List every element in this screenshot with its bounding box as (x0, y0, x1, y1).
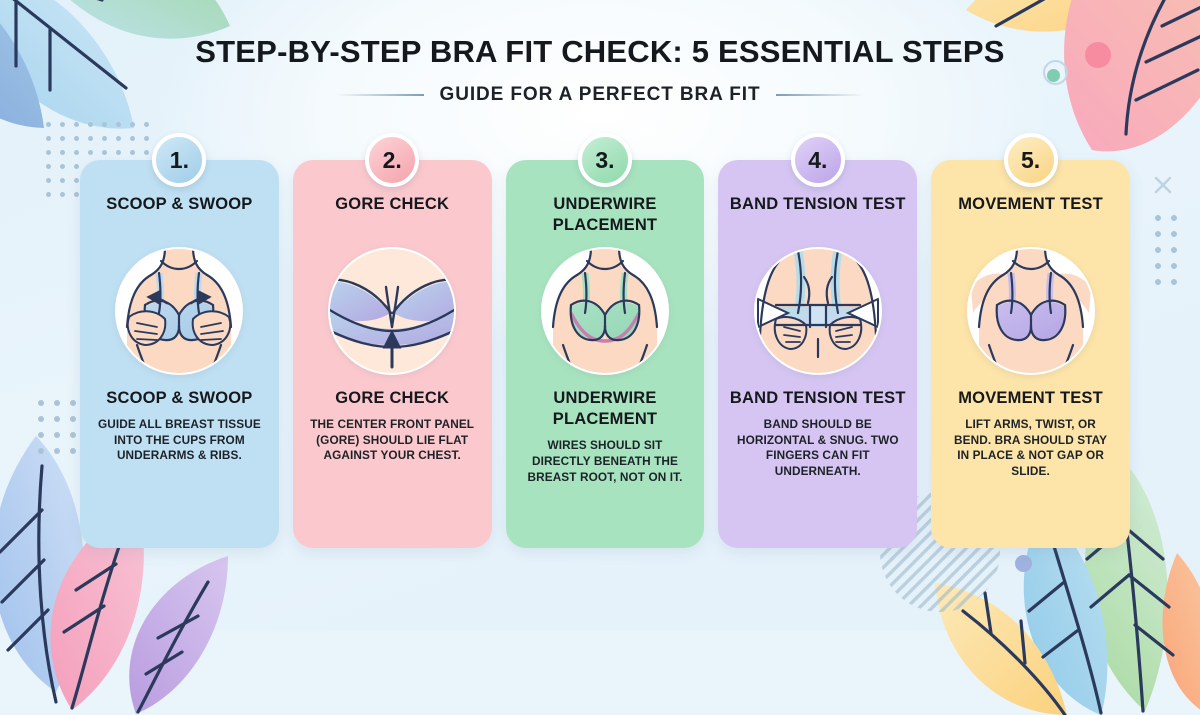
step-card-1[interactable]: 1. SCOOP & SWOOP (80, 160, 279, 548)
page-title: STEP-BY-STEP BRA FIT CHECK: 5 ESSENTIAL … (0, 34, 1200, 70)
subtitle-divider-right (776, 94, 864, 96)
step-heading: GORE CHECK (335, 194, 449, 238)
underwire-placement-torso-illustration (541, 247, 669, 375)
subtitle-row: GUIDE FOR A PERFECT BRA FIT (0, 84, 1200, 106)
scoop-swoop-torso-illustration (115, 247, 243, 375)
step-heading: BAND TENSION TEST (730, 194, 906, 238)
step-heading: UNDERWIRE PLACEMENT (516, 194, 695, 238)
step-title: SCOOP & SWOOP (106, 388, 252, 409)
gore-check-closeup-illustration (328, 247, 456, 375)
step-number-badge: 1. (152, 133, 206, 187)
step-number-badge: 4. (791, 133, 845, 187)
step-number-badge: 3. (578, 133, 632, 187)
step-title: MOVEMENT TEST (958, 388, 1103, 409)
header: STEP-BY-STEP BRA FIT CHECK: 5 ESSENTIAL … (0, 0, 1200, 106)
subtitle-divider-left (336, 94, 424, 96)
step-title: UNDERWIRE PLACEMENT (516, 388, 695, 430)
steps-container: 1. SCOOP & SWOOP (80, 160, 1130, 548)
band-tension-back-illustration (754, 247, 882, 375)
step-number-badge: 2. (365, 133, 419, 187)
step-card-5[interactable]: 5. MOVEMENT TEST (931, 160, 1130, 548)
step-description: BAND SHOULD BE HORIZONTAL & SNUG. TWO FI… (728, 417, 907, 480)
step-card-2[interactable]: 2. GORE CHECK (293, 160, 492, 548)
step-number-label: 3. (595, 147, 614, 174)
step-heading: SCOOP & SWOOP (106, 194, 252, 238)
step-number-label: 2. (383, 147, 402, 174)
step-card-3[interactable]: 3. UNDERWIRE PLACEMENT (506, 160, 705, 548)
page-subtitle: GUIDE FOR A PERFECT BRA FIT (440, 84, 761, 106)
step-card-4[interactable]: 4. BAND TENSION TEST (718, 160, 917, 548)
step-number-label: 1. (170, 147, 189, 174)
step-description: LIFT ARMS, TWIST, OR BEND. BRA SHOULD ST… (941, 417, 1120, 480)
step-title: BAND TENSION TEST (730, 388, 906, 409)
step-title: GORE CHECK (335, 388, 449, 409)
step-number-badge: 5. (1004, 133, 1058, 187)
step-description: THE CENTER FRONT PANEL (GORE) SHOULD LIE… (303, 417, 482, 464)
dot-grid-right (1155, 215, 1187, 295)
step-heading: MOVEMENT TEST (958, 194, 1103, 238)
step-number-label: 5. (1021, 147, 1040, 174)
step-description: GUIDE ALL BREAST TISSUE INTO THE CUPS FR… (90, 417, 269, 464)
movement-test-arms-raised-illustration (967, 247, 1095, 375)
step-number-label: 4. (808, 147, 827, 174)
step-description: WIRES SHOULD SIT DIRECTLY BENEATH THE BR… (516, 438, 695, 485)
